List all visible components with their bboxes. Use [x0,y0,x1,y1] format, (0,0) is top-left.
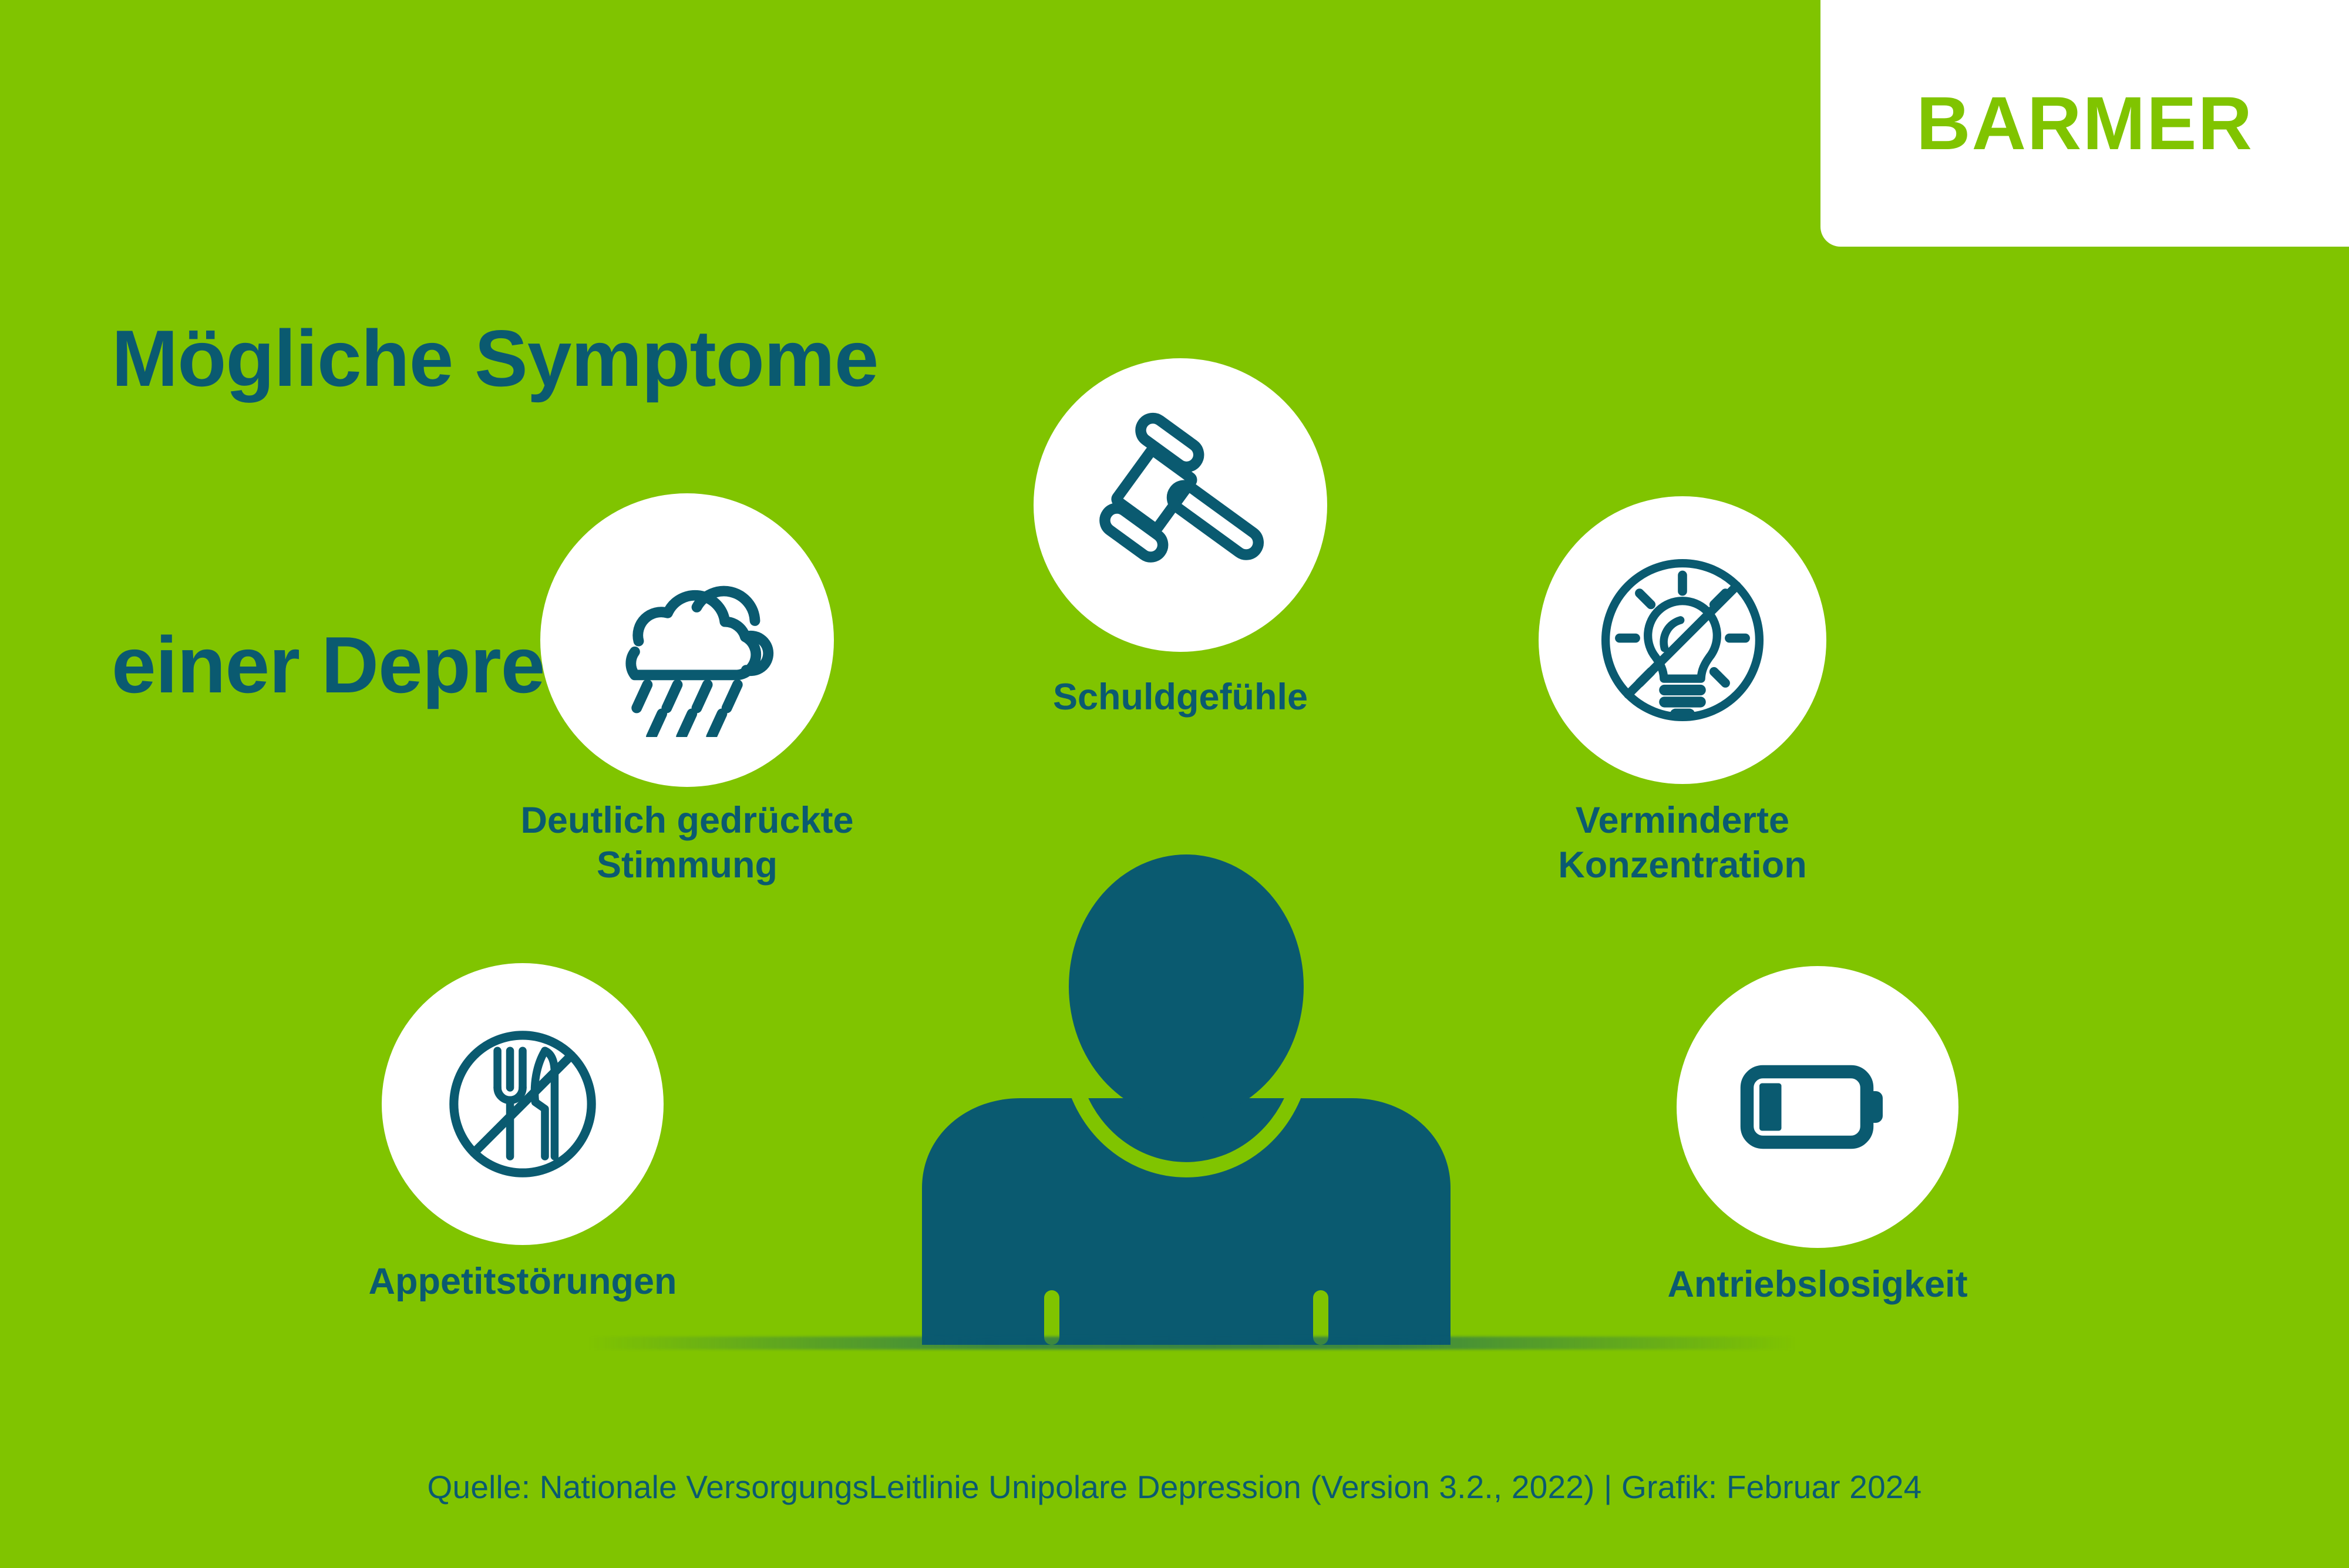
barmer-logo: BARMER [1820,0,2349,247]
gavel-icon [1083,408,1277,602]
person-silhouette-icon [922,854,1451,1345]
low-battery-icon [1729,1019,1906,1195]
symptom-item-schuldgefuehle: Schuldgefühle [1034,358,1327,652]
symptom-label: Deutlich gedrückte Stimmung [423,799,951,887]
symptom-item-deutlich-gedrueckte-stimmung: Deutlich gedrückte Stimmung [540,493,834,787]
ground-shadow-line [587,1337,1797,1350]
symptom-icon-circle [1539,496,1826,784]
symptom-icon-circle [1677,966,1958,1248]
barmer-logo-wordmark: BARMER [1916,80,2253,167]
symptom-icon-circle [1034,358,1327,652]
symptom-label: Schuldgefühle [916,675,1445,720]
symptom-label: Appetitstörungen [258,1260,787,1304]
no-cutlery-icon [426,1007,620,1201]
symptom-label: Antriebslosigkeit [1553,1263,2082,1307]
infographic-canvas: Mögliche Symptome einer Depression BARME… [0,0,2349,1568]
symptom-item-verminderte-konzentration: Verminderte Konzentration [1539,496,1826,784]
no-lightbulb-icon [1583,540,1782,740]
source-note: Quelle: Nationale VersorgungsLeitlinie U… [0,1468,2349,1506]
rain-cloud-icon [590,543,784,737]
symptom-item-antriebslosigkeit: Antriebslosigkeit [1677,966,1958,1248]
symptom-label: Verminderte Konzentration [1418,799,1947,887]
symptom-icon-circle [540,493,834,787]
page-title-line-1: Mögliche Symptome [112,307,878,409]
symptom-icon-circle [382,963,664,1245]
symptom-item-appetitstoerungen: Appetitstörungen [382,963,664,1245]
